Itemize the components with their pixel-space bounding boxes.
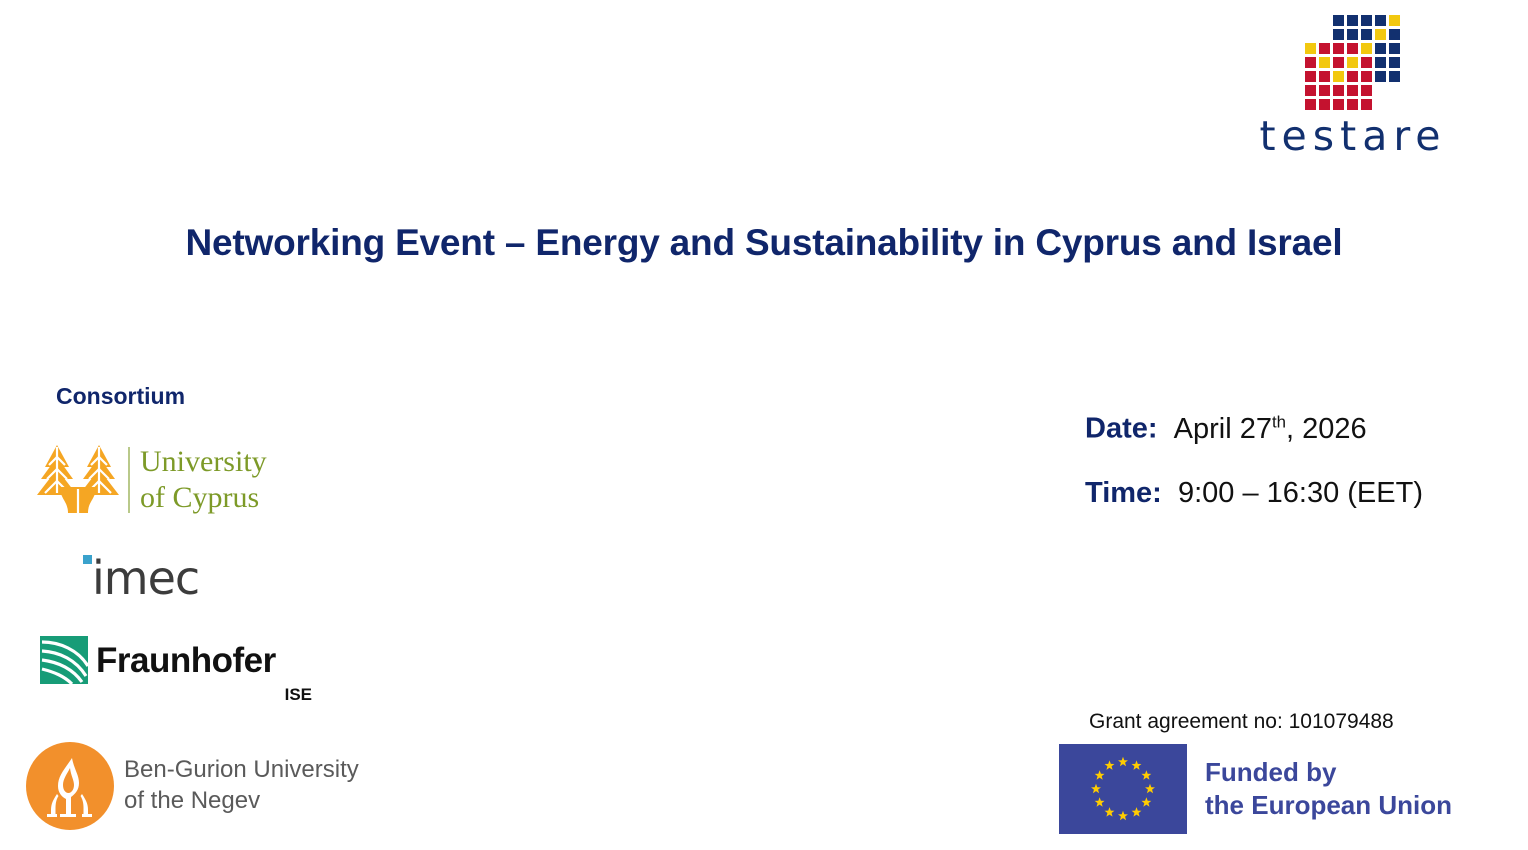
- testare-pixel-cell: [1360, 98, 1373, 111]
- testare-pixel-cell: [1374, 70, 1387, 83]
- testare-pixel-cell: [1332, 84, 1345, 97]
- testare-pixel-cell: [1374, 42, 1387, 55]
- testare-pixel-cell: [1374, 28, 1387, 41]
- event-date-label: Date:: [1085, 413, 1158, 445]
- testare-pixel-cell: [1374, 14, 1387, 27]
- testare-pixel-cell: [1332, 56, 1345, 69]
- testare-pixel-cell: [1318, 98, 1331, 111]
- testare-pixel-cell: [1346, 14, 1359, 27]
- eu-flag-star: [1141, 770, 1151, 779]
- ucy-wordmark: University of Cyprus: [140, 444, 267, 516]
- testare-pixel-cell: [1304, 56, 1317, 69]
- testare-pixel-cell: [1304, 84, 1317, 97]
- eu-funding-block: Funded by the European Union: [1059, 744, 1489, 836]
- partner-logo-ben-gurion-university: Ben-Gurion University of the Negev: [26, 742, 366, 834]
- eu-flag-star: [1095, 770, 1105, 779]
- testare-pixel-cell: [1304, 70, 1317, 83]
- testare-pixel-cell: [1332, 70, 1345, 83]
- testare-pixel-cell: [1332, 42, 1345, 55]
- testare-pixel-cell: [1360, 84, 1373, 97]
- testare-pixel-cell: [1374, 56, 1387, 69]
- eu-flag-star: [1095, 797, 1105, 806]
- event-date-year: , 2026: [1286, 413, 1367, 445]
- bgu-flame-icon: [26, 742, 114, 830]
- testare-pixel-cell: [1388, 14, 1401, 27]
- ucy-wordmark-line1: University: [140, 444, 267, 480]
- testare-wordmark: testare: [1222, 114, 1484, 158]
- testare-pixel-cell: [1346, 98, 1359, 111]
- testare-pixel-cell: [1360, 14, 1373, 27]
- fraunhofer-wordmark: Fraunhofer: [96, 641, 276, 681]
- eu-flag-icon: [1059, 744, 1187, 834]
- eu-flag-star: [1118, 757, 1128, 766]
- imec-wordmark: imec: [92, 553, 199, 603]
- testare-pixel-cell: [1360, 70, 1373, 83]
- testare-pixel-cell: [1388, 28, 1401, 41]
- eu-flag-star: [1132, 807, 1142, 816]
- testare-pixel-cell: [1388, 70, 1401, 83]
- eu-flag-star: [1141, 797, 1151, 806]
- eu-flag-star: [1091, 784, 1101, 793]
- eu-flag-star: [1105, 760, 1115, 769]
- fraunhofer-swoosh-icon: [40, 636, 88, 684]
- bgu-wordmark: Ben-Gurion University of the Negev: [124, 754, 359, 816]
- eu-flag-star: [1118, 811, 1128, 820]
- ucy-logo-divider: [128, 447, 130, 513]
- testare-pixel-cell: [1318, 42, 1331, 55]
- eu-funding-line1: Funded by: [1205, 756, 1452, 789]
- testare-pixel-cell: [1304, 42, 1317, 55]
- eu-flag-star: [1145, 784, 1155, 793]
- event-details: Date: April 27th, 2026 Time: 9:00 – 16:3…: [1085, 390, 1505, 525]
- eu-funding-text: Funded by the European Union: [1205, 756, 1452, 822]
- testare-pixel-cell: [1346, 42, 1359, 55]
- testare-pixel-cell: [1332, 14, 1345, 27]
- cyprus-trees-icon: [36, 443, 120, 515]
- testare-pixel-cell: [1360, 56, 1373, 69]
- event-time-label: Time:: [1085, 477, 1162, 509]
- partner-logo-imec: imec: [78, 550, 258, 605]
- testare-pixel-cell: [1318, 70, 1331, 83]
- grant-agreement-text: Grant agreement no: 101079488: [1089, 710, 1394, 734]
- event-time-value: [1170, 477, 1178, 509]
- bgu-wordmark-line1: Ben-Gurion University: [124, 754, 359, 785]
- testare-pixel-cell: [1346, 70, 1359, 83]
- imec-dot-icon: [83, 555, 92, 564]
- consortium-heading: Consortium: [56, 383, 185, 410]
- event-date-row: Date: April 27th, 2026: [1085, 390, 1505, 461]
- page-title: Networking Event – Energy and Sustainabi…: [0, 222, 1528, 264]
- bgu-wordmark-line2: of the Negev: [124, 785, 359, 816]
- eu-flag-star: [1132, 760, 1142, 769]
- fraunhofer-institute-label: ISE: [232, 685, 312, 705]
- event-date-ordinal: th: [1272, 412, 1286, 431]
- testare-pixel-cell: [1346, 84, 1359, 97]
- testare-pixel-cell: [1332, 98, 1345, 111]
- testare-pixel-cell: [1388, 56, 1401, 69]
- testare-pixel-cell: [1360, 42, 1373, 55]
- testare-pixel-cell: [1346, 28, 1359, 41]
- testare-pixel-cell: [1388, 42, 1401, 55]
- testare-logo: testare: [1222, 14, 1484, 159]
- testare-pixel-mark-icon: [1304, 14, 1408, 112]
- testare-pixel-cell: [1332, 28, 1345, 41]
- testare-pixel-cell: [1346, 56, 1359, 69]
- eu-funding-line2: the European Union: [1205, 789, 1452, 822]
- eu-flag-star: [1105, 807, 1115, 816]
- partner-logo-fraunhofer-ise: Fraunhofer ISE: [40, 636, 300, 706]
- partner-logo-university-of-cyprus: University of Cyprus: [36, 443, 286, 517]
- event-time-row: Time: 9:00 – 16:30 (EET): [1085, 461, 1505, 525]
- event-date-monthday: April 27: [1174, 413, 1272, 445]
- testare-pixel-cell: [1360, 28, 1373, 41]
- ucy-wordmark-line2: of Cyprus: [140, 480, 267, 516]
- testare-pixel-cell: [1318, 56, 1331, 69]
- testare-pixel-cell: [1318, 84, 1331, 97]
- event-date-value: April 27th, 2026: [1166, 413, 1367, 445]
- testare-pixel-cell: [1304, 98, 1317, 111]
- event-time-value-text: 9:00 – 16:30 (EET): [1178, 477, 1423, 509]
